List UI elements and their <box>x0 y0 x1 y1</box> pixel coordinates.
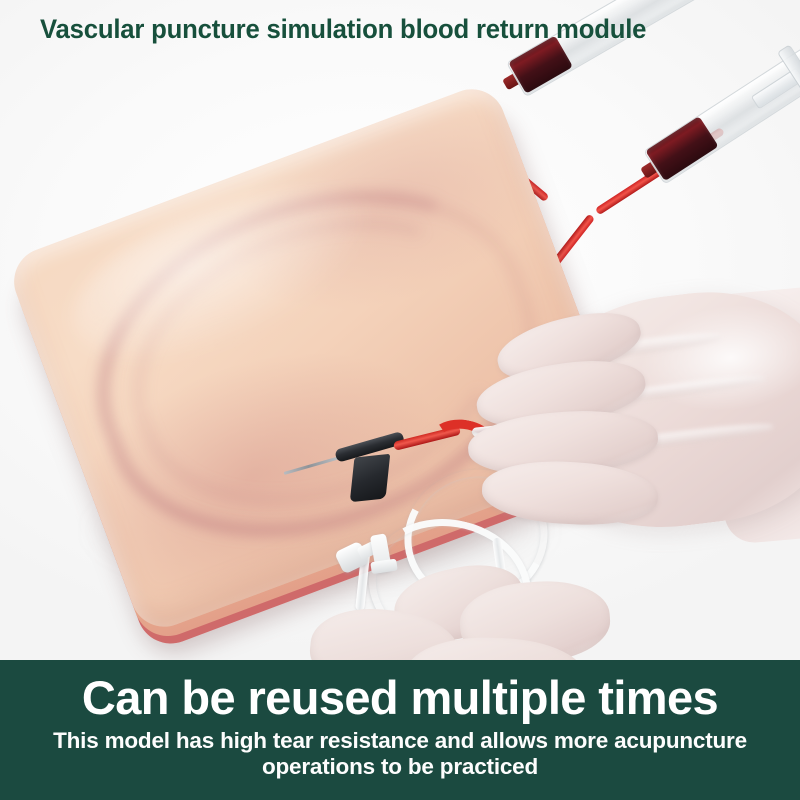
product-marketing-image: Vascular puncture simulation blood retur… <box>0 0 800 800</box>
banner-headline: Can be reused multiple times <box>0 660 800 726</box>
banner-subtitle-line-2: operations to be practiced <box>0 754 800 780</box>
page-title: Vascular puncture simulation blood retur… <box>40 14 646 45</box>
product-photo: Vascular puncture simulation blood retur… <box>0 0 800 662</box>
banner-subtitle-line-1: This model has high tear resistance and … <box>0 726 800 754</box>
needle-wing <box>350 454 391 502</box>
gloved-hand-right <box>424 286 800 586</box>
gloved-hand-left <box>310 556 640 662</box>
syringe-lower <box>643 0 800 185</box>
promo-banner: Can be reused multiple times This model … <box>0 660 800 800</box>
